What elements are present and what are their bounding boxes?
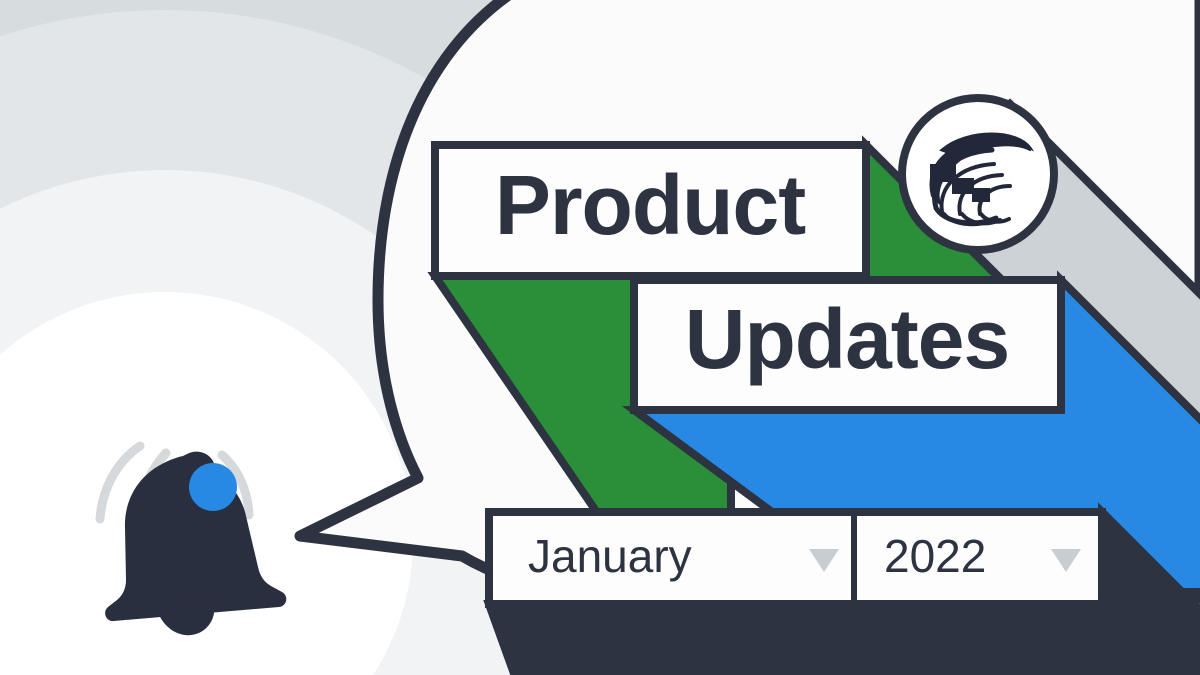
- updates-title-text: Updates: [685, 292, 1009, 386]
- product-title-text: Product: [495, 158, 805, 252]
- banner-canvas: Product Updates January 2022: [0, 0, 1200, 675]
- year-select[interactable]: [854, 512, 1102, 604]
- brand-logo-button[interactable]: [902, 98, 1054, 250]
- month-select[interactable]: [489, 512, 854, 604]
- notification-bell-button[interactable]: [90, 440, 280, 640]
